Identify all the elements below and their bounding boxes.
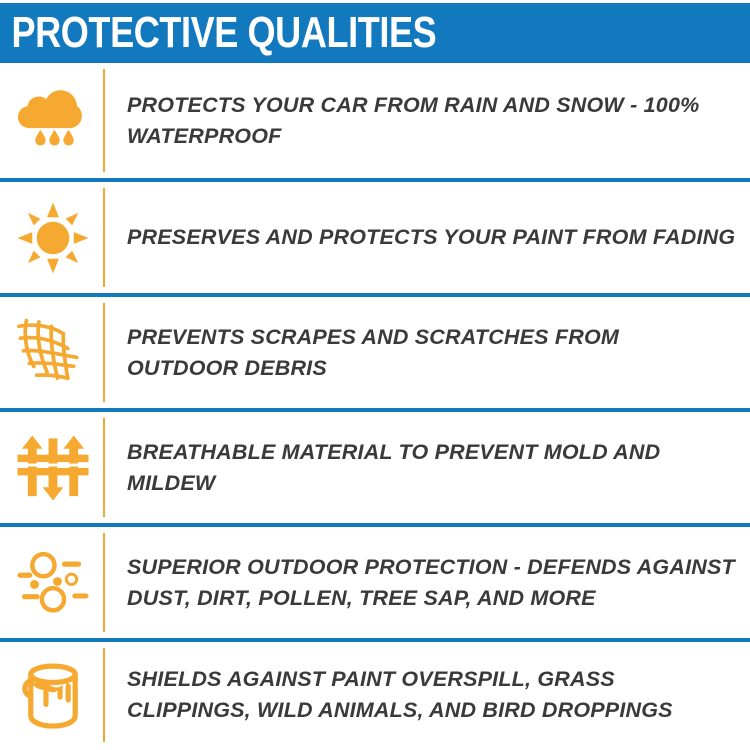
- feature-text: SHIELDS AGAINST PAINT OVERSPILL, GRASS C…: [127, 664, 736, 725]
- list-item: BREATHABLE MATERIAL TO PREVENT MOLD AND …: [0, 408, 750, 523]
- text-cell: PRESERVES AND PROTECTS YOUR PAINT FROM F…: [105, 182, 750, 293]
- dust-particles-icon: [16, 546, 90, 620]
- torn-net-icon: [16, 316, 90, 390]
- icon-cell: [0, 297, 105, 408]
- feature-list: PROTECTS YOUR CAR FROM RAIN AND SNOW - 1…: [0, 63, 750, 748]
- icon-column-divider: [103, 188, 105, 287]
- page-title: PROTECTIVE QUALITIES: [0, 11, 436, 55]
- icon-column-divider: [103, 648, 105, 742]
- icon-column-divider: [103, 69, 105, 172]
- icon-cell: [0, 527, 105, 638]
- rain-cloud-icon: [16, 84, 90, 158]
- feature-text: BREATHABLE MATERIAL TO PREVENT MOLD AND …: [127, 437, 736, 498]
- icon-cell: [0, 642, 105, 748]
- text-cell: PROTECTS YOUR CAR FROM RAIN AND SNOW - 1…: [105, 63, 750, 178]
- icon-cell: [0, 182, 105, 293]
- text-cell: SUPERIOR OUTDOOR PROTECTION - DEFENDS AG…: [105, 527, 750, 638]
- feature-text: PROTECTS YOUR CAR FROM RAIN AND SNOW - 1…: [127, 90, 736, 151]
- text-cell: BREATHABLE MATERIAL TO PREVENT MOLD AND …: [105, 412, 750, 523]
- icon-cell: [0, 63, 105, 178]
- breathable-airflow-arrows-icon: [16, 431, 90, 505]
- feature-text: SUPERIOR OUTDOOR PROTECTION - DEFENDS AG…: [127, 552, 736, 613]
- icon-column-divider: [103, 533, 105, 632]
- list-item: PRESERVES AND PROTECTS YOUR PAINT FROM F…: [0, 178, 750, 293]
- list-item: PROTECTS YOUR CAR FROM RAIN AND SNOW - 1…: [0, 63, 750, 178]
- protective-qualities-infographic: PROTECTIVE QUALITIES PROTECTS YOUR CAR F…: [0, 0, 750, 750]
- text-cell: SHIELDS AGAINST PAINT OVERSPILL, GRASS C…: [105, 642, 750, 748]
- sun-icon: [16, 201, 90, 275]
- feature-text: PRESERVES AND PROTECTS YOUR PAINT FROM F…: [127, 222, 735, 253]
- icon-column-divider: [103, 418, 105, 517]
- paint-can-icon: [16, 658, 90, 732]
- list-item: SUPERIOR OUTDOOR PROTECTION - DEFENDS AG…: [0, 523, 750, 638]
- list-item: SHIELDS AGAINST PAINT OVERSPILL, GRASS C…: [0, 638, 750, 748]
- list-item: PREVENTS SCRAPES AND SCRATCHES FROM OUTD…: [0, 293, 750, 408]
- icon-cell: [0, 412, 105, 523]
- header-bar: PROTECTIVE QUALITIES: [0, 3, 750, 63]
- icon-column-divider: [103, 303, 105, 402]
- text-cell: PREVENTS SCRAPES AND SCRATCHES FROM OUTD…: [105, 297, 750, 408]
- feature-text: PREVENTS SCRAPES AND SCRATCHES FROM OUTD…: [127, 322, 736, 383]
